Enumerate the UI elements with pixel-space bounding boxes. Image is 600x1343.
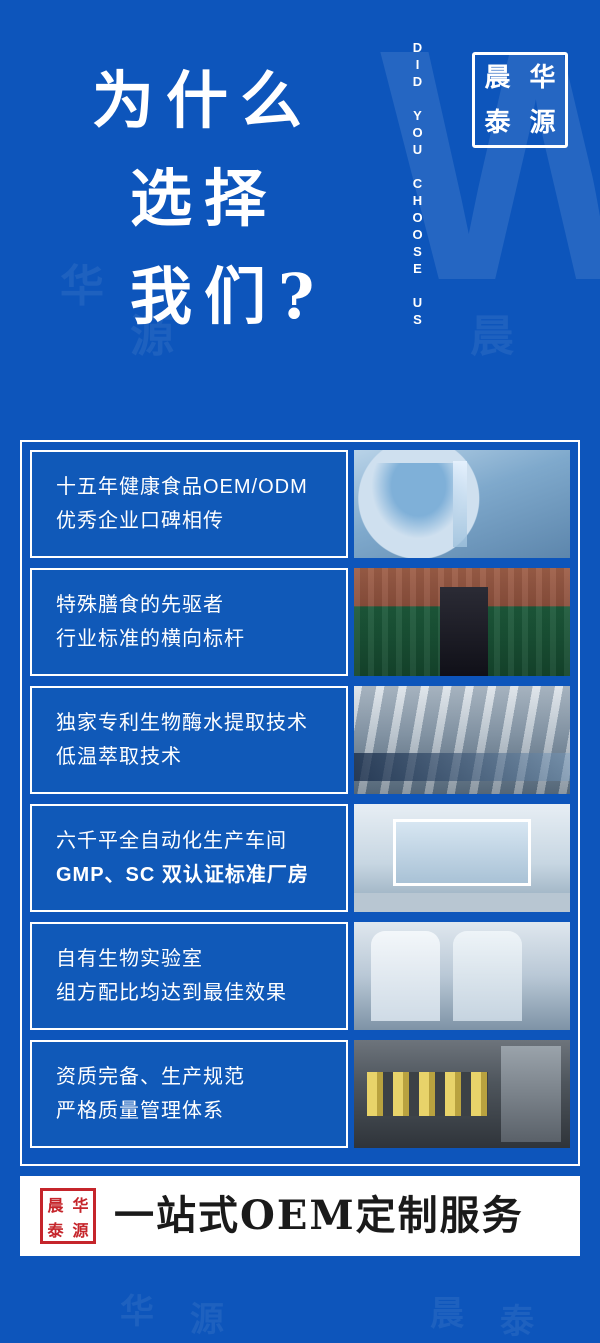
feature-line-2: GMP、SC 双认证标准厂房 xyxy=(56,858,346,892)
feature-image-conference-audience xyxy=(354,568,570,676)
headline-line-2: 选择 xyxy=(92,150,392,248)
feature-row: 六千平全自动化生产车间 GMP、SC 双认证标准厂房 xyxy=(30,804,570,912)
feature-text-block: 特殊膳食的先驱者 行业标准的横向标杆 xyxy=(30,568,348,676)
watermark-char: 华 xyxy=(120,1284,154,1333)
vertical-english-caption: DID YOU CHOOSE US xyxy=(404,40,430,390)
feature-image-filling-line xyxy=(354,686,570,794)
feature-text-block: 独家专利生物酶水提取技术 低温萃取技术 xyxy=(30,686,348,794)
footer-slogan: 一站式OEM定制服务 xyxy=(114,1194,524,1238)
feature-row: 特殊膳食的先驱者 行业标准的横向标杆 xyxy=(30,568,570,676)
feature-row: 十五年健康食品OEM/ODM 优秀企业口碑相传 xyxy=(30,450,570,558)
footer-seal-char-3: 源 xyxy=(72,1217,88,1241)
feature-line-1: 六千平全自动化生产车间 xyxy=(56,824,346,858)
seal-char-2: 晨 xyxy=(484,64,510,92)
seal-char-1: 华 xyxy=(529,64,555,92)
feature-text-block: 十五年健康食品OEM/ODM 优秀企业口碑相传 xyxy=(30,450,348,558)
footer-seal-char-2: 晨 xyxy=(47,1192,63,1216)
feature-line-2: 组方配比均达到最佳效果 xyxy=(56,976,346,1010)
headline-line-1: 为什么 xyxy=(92,52,392,150)
watermark-char: 源 xyxy=(190,1292,224,1341)
header: W 为什么 选择 我们? DID YOU CHOOSE US 华 晨 源 泰 华… xyxy=(0,0,600,430)
feature-line-1: 特殊膳食的先驱者 xyxy=(56,588,346,622)
watermark-char: 晨 xyxy=(470,300,514,364)
bottom-strip: 华 源 晨 泰 xyxy=(0,1256,600,1336)
watermark-char: 晨 xyxy=(430,1286,464,1335)
footer-seal-char-4: 泰 xyxy=(47,1217,63,1241)
feature-line-2: 优秀企业口碑相传 xyxy=(56,504,346,538)
feature-image-workshop-corridor xyxy=(354,804,570,912)
feature-line-2: 低温萃取技术 xyxy=(56,740,346,774)
feature-text-block: 自有生物实验室 组方配比均达到最佳效果 xyxy=(30,922,348,1030)
brand-logo-seal: 华 晨 源 泰 xyxy=(472,52,568,148)
feature-row: 自有生物实验室 组方配比均达到最佳效果 xyxy=(30,922,570,1030)
footer-logo-seal: 华 晨 源 泰 xyxy=(40,1188,96,1244)
footer-banner: 华 晨 源 泰 一站式OEM定制服务 xyxy=(20,1176,580,1256)
feature-line-1: 十五年健康食品OEM/ODM xyxy=(56,470,346,504)
feature-line-1: 资质完备、生产规范 xyxy=(56,1060,346,1094)
seal-char-3: 源 xyxy=(529,109,555,137)
headline-line-3: 我们? xyxy=(92,248,392,346)
feature-text-block: 六千平全自动化生产车间 GMP、SC 双认证标准厂房 xyxy=(30,804,348,912)
feature-line-1: 独家专利生物酶水提取技术 xyxy=(56,706,346,740)
feature-line-1: 自有生物实验室 xyxy=(56,942,346,976)
feature-text-block: 资质完备、生产规范 严格质量管理体系 xyxy=(30,1040,348,1148)
feature-line-2: 行业标准的横向标杆 xyxy=(56,622,346,656)
feature-row: 资质完备、生产规范 严格质量管理体系 xyxy=(30,1040,570,1148)
feature-image-lab-technician xyxy=(354,450,570,558)
feature-panel: 十五年健康食品OEM/ODM 优秀企业口碑相传 特殊膳食的先驱者 行业标准的横向… xyxy=(20,440,580,1166)
feature-image-two-researchers xyxy=(354,922,570,1030)
seal-char-4: 泰 xyxy=(484,109,510,137)
feature-row: 独家专利生物酶水提取技术 低温萃取技术 xyxy=(30,686,570,794)
feature-image-blister-packing xyxy=(354,1040,570,1148)
feature-line-2: 严格质量管理体系 xyxy=(56,1094,346,1128)
footer-seal-char-1: 华 xyxy=(72,1192,88,1216)
page-title: 为什么 选择 我们? xyxy=(92,52,392,346)
